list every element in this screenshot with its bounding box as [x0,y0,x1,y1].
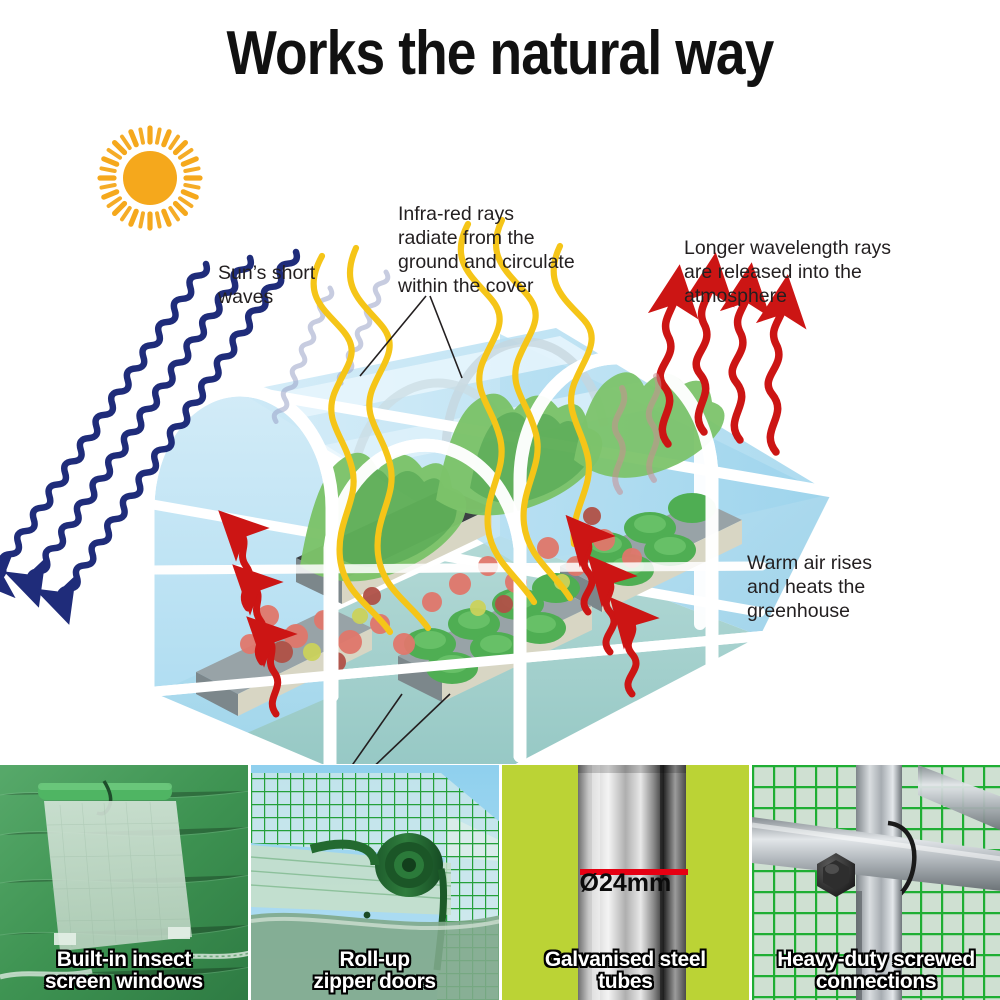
feature-caption: Built-in insect screen windows [0,949,248,992]
feature-cell-zipper-door[interactable]: Roll-up zipper doors [248,765,499,1000]
purlin-mid-front [150,566,762,570]
sun-icon [100,128,200,228]
annotation-infrared: Infra-red rays radiate from the ground a… [398,203,575,299]
poster-root: Works the natural way [0,0,1000,1000]
page-title: Works the natural way [70,18,930,89]
tube-dimension-label: Ø24mm [502,869,750,898]
feature-cell-screwed-connection[interactable]: Heavy-duty screwed connections [749,765,1000,1000]
annotation-sun: Sun’s short waves [218,262,315,310]
feature-caption: Heavy-duty screwed connections [752,949,1000,992]
feature-cell-insect-screen[interactable]: Built-in insect screen windows [0,765,248,1000]
annotation-warm-air: Warm air rises and heats the greenhouse [747,552,872,624]
feature-caption: Roll-up zipper doors [251,949,499,992]
greenhouse-diagram: Sun’s short waves Infra-red rays radiate… [0,96,1000,764]
feature-strip: Built-in insect screen windows [0,765,1000,1000]
feature-caption: Galvanised steel tubes [502,949,750,992]
feature-cell-steel-tube[interactable]: Ø24mm Galvanised steel tubes [499,765,750,1000]
annotation-longwave: Longer wavelength rays are released into… [684,237,891,309]
